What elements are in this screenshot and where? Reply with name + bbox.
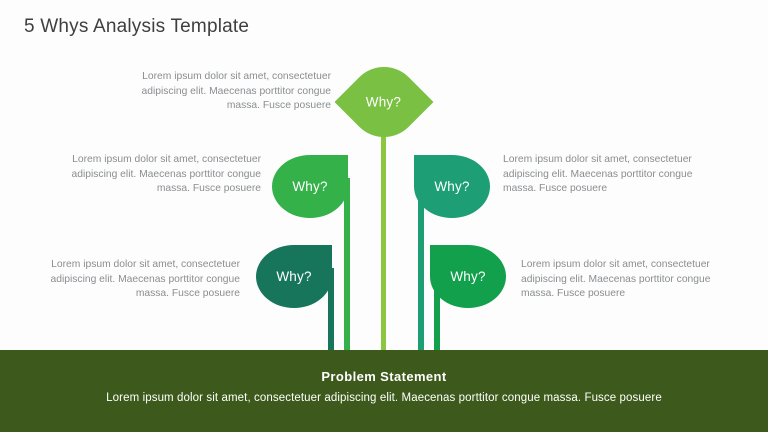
why-node-2[interactable]: Why? [272,155,348,218]
why-node-5-label: Why? [450,269,485,284]
note-why-1: Lorem ipsum dolor sit amet, consectetuer… [131,70,331,114]
five-whys-diagram: Why? Why? Why? Why? Why? Lorem ipsum dol… [0,0,768,350]
why-node-3-label: Why? [434,179,469,194]
why-node-4[interactable]: Why? [256,245,332,308]
why-node-1[interactable]: Why? [335,53,434,152]
why-node-1-label: Why? [366,95,401,110]
why-node-2-label: Why? [292,179,327,194]
problem-statement-title: Problem Statement [321,369,446,384]
problem-statement-text: Lorem ipsum dolor sit amet, consectetuer… [106,392,662,404]
stem-why-1 [381,128,386,350]
note-why-4: Lorem ipsum dolor sit amet, consectetuer… [40,258,240,302]
why-node-4-label: Why? [276,269,311,284]
problem-statement-banner: Problem Statement Lorem ipsum dolor sit … [0,350,768,432]
note-why-3: Lorem ipsum dolor sit amet, consectetuer… [503,153,703,197]
slide-canvas: 5 Whys Analysis Template Why? Why? Why? … [0,0,768,432]
note-why-2: Lorem ipsum dolor sit amet, consectetuer… [61,153,261,197]
stem-why-2 [344,178,350,350]
note-why-5: Lorem ipsum dolor sit amet, consectetuer… [521,258,721,302]
why-node-5[interactable]: Why? [430,245,506,308]
why-node-3[interactable]: Why? [414,155,490,218]
